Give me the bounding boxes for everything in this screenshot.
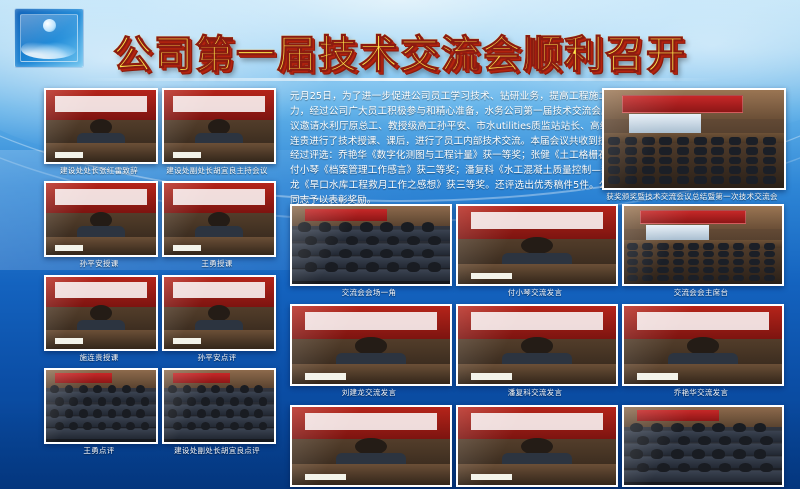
photo-caption: 王勇授课 (162, 260, 272, 268)
photo-grid-row: 交流会会场一角 付小琴交流发言 交流会会主席台 (290, 204, 782, 297)
left-photo-cell-4[interactable]: 施连贵授课 (44, 275, 154, 362)
photo-caption: 刘建龙交流发言 (290, 389, 448, 397)
photo-caption: 交流会会场一角 (290, 289, 448, 297)
grid-photo-cell-1-2[interactable]: 乔艳华交流发言 (622, 304, 780, 397)
photo-caption: 孙平安授课 (44, 260, 154, 268)
photo-caption: 付小琴交流发言 (456, 289, 614, 297)
grid-photo-cell-2-1[interactable]: 杨兰交流发言 (456, 405, 614, 489)
photo-caption: 建设处副处长胡宜良主持会议 (162, 167, 272, 175)
photo-frame[interactable] (290, 204, 452, 286)
left-photo-column: 建设处处长张红雷致辞 建设处副处长胡宜良主持会议 孙平安授课 (44, 88, 278, 461)
photo-frame[interactable] (44, 88, 158, 164)
photo-frame[interactable] (622, 204, 784, 286)
left-photo-cell-3[interactable]: 王勇授课 (162, 181, 272, 268)
photo-frame[interactable] (622, 405, 784, 487)
poster-canvas: 公司第一届技术交流会顺利召开 建设处处长张红雷致辞 建设处副处长胡宜良主持会议 (0, 0, 800, 489)
grid-photo-cell-2-0[interactable]: 张健交流发言 (290, 405, 448, 489)
left-photo-cell-2[interactable]: 孙平安授课 (44, 181, 154, 268)
photo-caption: 施连贵授课 (44, 354, 154, 362)
photo-frame[interactable] (456, 405, 618, 487)
left-photo-cell-7[interactable]: 建设处副处长胡宜良点评 (162, 368, 272, 455)
photo-frame[interactable] (456, 304, 618, 386)
grid-photo-cell-1-0[interactable]: 刘建龙交流发言 (290, 304, 448, 397)
photo-frame[interactable] (290, 405, 452, 487)
left-photo-cell-0[interactable]: 建设处处长张红雷致辞 (44, 88, 154, 175)
left-photo-cell-1[interactable]: 建设处副处长胡宜良主持会议 (162, 88, 272, 175)
photo-grid: 交流会会场一角 付小琴交流发言 交流会会主席台 (290, 204, 782, 489)
photo-frame[interactable] (44, 275, 158, 351)
photo-frame[interactable] (44, 181, 158, 257)
photo-frame[interactable] (44, 368, 158, 444)
photo-frame[interactable] (162, 88, 276, 164)
photo-caption: 潘复科交流发言 (456, 389, 614, 397)
top-right-photo-cell-0[interactable]: 获奖颁奖暨技术交流会议总结暨第一次技术交流会 (602, 88, 782, 201)
grid-photo-cell-1-1[interactable]: 潘复科交流发言 (456, 304, 614, 397)
photo-caption: 建设处处长张红雷致辞 (44, 167, 154, 175)
photo-caption: 乔艳华交流发言 (622, 389, 780, 397)
photo-frame[interactable] (290, 304, 452, 386)
grid-photo-cell-0-0[interactable]: 交流会会场一角 (290, 204, 448, 297)
grid-photo-cell-2-2[interactable]: 认真听会 (622, 405, 780, 489)
grid-photo-cell-0-2[interactable]: 交流会会主席台 (622, 204, 780, 297)
photo-caption: 王勇点评 (44, 447, 154, 455)
grid-photo-cell-0-1[interactable]: 付小琴交流发言 (456, 204, 614, 297)
photo-frame[interactable] (456, 204, 618, 286)
photo-frame[interactable] (602, 88, 786, 190)
left-photo-cell-6[interactable]: 王勇点评 (44, 368, 154, 455)
top-right-photo-cell: 获奖颁奖暨技术交流会议总结暨第一次技术交流会 (602, 88, 782, 201)
photo-frame[interactable] (622, 304, 784, 386)
page-title: 公司第一届技术交流会顺利召开 (107, 24, 693, 80)
photo-grid-row: 张健交流发言 杨兰交流发言 认真听会 (290, 405, 782, 489)
poster-title-wrap: 公司第一届技术交流会顺利召开 (0, 24, 800, 80)
photo-caption: 获奖颁奖暨技术交流会议总结暨第一次技术交流会 (602, 193, 782, 201)
photo-caption: 交流会会主席台 (622, 289, 780, 297)
title-underline (80, 78, 720, 81)
photo-frame[interactable] (162, 368, 276, 444)
photo-caption: 孙平安点评 (162, 354, 272, 362)
photo-grid-row: 刘建龙交流发言 潘复科交流发言 乔艳华交流发言 (290, 304, 782, 397)
photo-frame[interactable] (162, 275, 276, 351)
photo-caption: 建设处副处长胡宜良点评 (162, 447, 272, 455)
poster-content: 建设处处长张红雷致辞 建设处副处长胡宜良主持会议 孙平安授课 (12, 88, 788, 476)
left-photo-cell-5[interactable]: 孙平安点评 (162, 275, 272, 362)
photo-frame[interactable] (162, 181, 276, 257)
